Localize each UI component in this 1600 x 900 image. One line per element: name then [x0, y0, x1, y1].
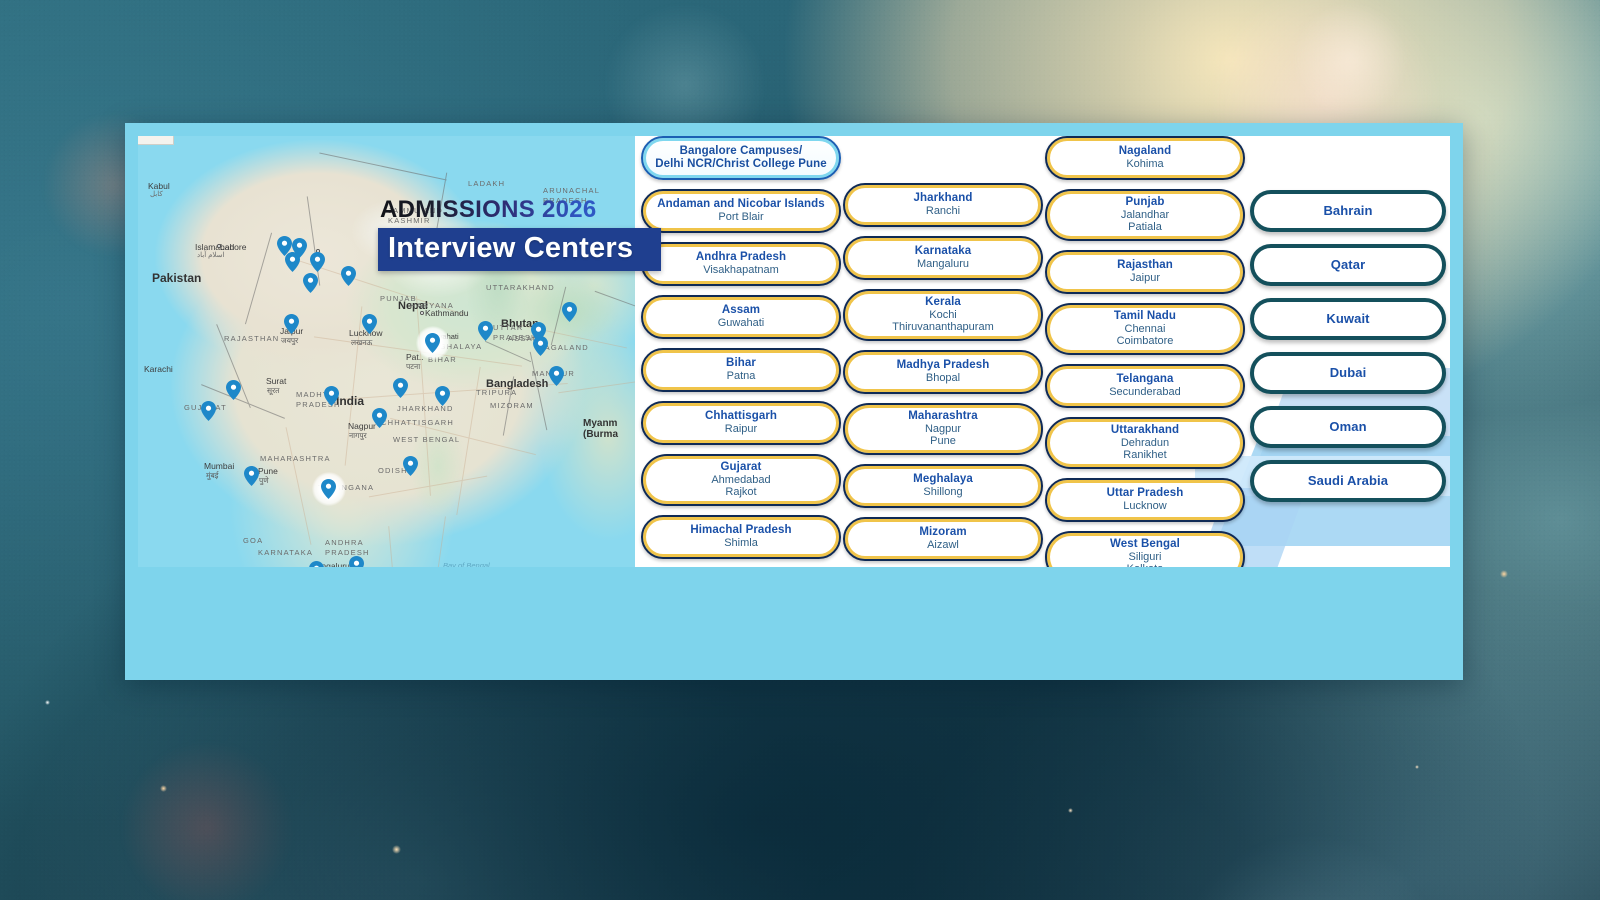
- center-country: Kuwait: [1326, 312, 1369, 327]
- center-state: Andaman and Nicobar Islands: [657, 198, 825, 211]
- center-city: Ahmedabad: [711, 474, 770, 487]
- map-city-dot: [217, 244, 221, 248]
- center-state: Andhra Pradesh: [696, 251, 786, 264]
- center-card[interactable]: Bihar Patna: [641, 348, 841, 392]
- center-city: Nagpur: [925, 423, 961, 436]
- center-card-international[interactable]: Bahrain: [1250, 190, 1446, 232]
- map-marker-pin[interactable]: [303, 273, 318, 293]
- center-city: Ranikhet: [1123, 449, 1166, 462]
- center-card-bangalore[interactable]: Bangalore Campuses/ Delhi NCR/Christ Col…: [641, 136, 841, 180]
- center-state: Rajasthan: [1117, 259, 1173, 272]
- center-card[interactable]: Meghalaya Shillong: [843, 464, 1043, 508]
- center-card-international[interactable]: Oman: [1250, 406, 1446, 448]
- center-city: Coimbatore: [1117, 335, 1174, 348]
- map-marker-pin[interactable]: [341, 266, 356, 286]
- center-card[interactable]: Andhra Pradesh Visakhapatnam: [641, 242, 841, 286]
- center-country: Oman: [1329, 420, 1366, 435]
- center-city: Jalandhar: [1121, 209, 1169, 222]
- map-marker-pin[interactable]: [324, 386, 339, 406]
- center-card[interactable]: Karnataka Mangaluru: [843, 236, 1043, 280]
- center-city: Kolkata: [1127, 563, 1164, 567]
- center-city: Jaipur: [1130, 272, 1160, 285]
- page-title: Interview Centers: [388, 232, 633, 264]
- center-state: Punjab: [1126, 196, 1165, 209]
- center-card-subtitle: Delhi NCR/Christ College Pune: [655, 158, 827, 171]
- center-city: Pune: [930, 435, 956, 448]
- center-city: Ranchi: [926, 205, 960, 218]
- center-state: Uttar Pradesh: [1107, 487, 1184, 500]
- center-card-international[interactable]: Saudi Arabia: [1250, 460, 1446, 502]
- center-card-international[interactable]: Qatar: [1250, 244, 1446, 286]
- map-marker-pin[interactable]: [310, 252, 325, 272]
- center-card[interactable]: Madhya Pradesh Bhopal: [843, 350, 1043, 394]
- map-attribution-strip: [138, 136, 174, 145]
- centers-column-international: Bahrain Qatar Kuwait Dubai Oman: [1250, 136, 1446, 514]
- center-state: Bihar: [726, 357, 756, 370]
- center-card[interactable]: Maharashtra Nagpur Pune: [843, 403, 1043, 455]
- map-marker-pin-highlighted[interactable]: [321, 479, 336, 499]
- center-city: Guwahati: [718, 317, 764, 330]
- map-marker-pin[interactable]: [349, 556, 364, 567]
- center-card[interactable]: Tamil Nadu Chennai Coimbatore: [1045, 303, 1245, 355]
- map-marker-pin[interactable]: [403, 456, 418, 476]
- center-card[interactable]: Mizoram Aizawl: [843, 517, 1043, 561]
- center-country: Qatar: [1331, 258, 1365, 273]
- center-card[interactable]: Rajasthan Jaipur: [1045, 250, 1245, 294]
- center-city: Patiala: [1128, 221, 1162, 234]
- center-city: Siliguri: [1128, 551, 1161, 564]
- center-state: Uttarakhand: [1111, 424, 1179, 437]
- center-city: Shimla: [724, 537, 758, 550]
- panel-inner: Pakistan India Nepal Bhutan Bangladesh M…: [138, 136, 1450, 567]
- center-card[interactable]: Himachal Pradesh Shimla: [641, 515, 841, 559]
- center-state: West Bengal: [1110, 538, 1180, 551]
- center-card[interactable]: Punjab Jalandhar Patiala: [1045, 189, 1245, 241]
- center-state: Kerala: [925, 296, 961, 309]
- center-card[interactable]: Assam Guwahati: [641, 295, 841, 339]
- center-city: Kochi: [929, 309, 957, 322]
- center-country: Saudi Arabia: [1308, 474, 1388, 489]
- center-state: Karnataka: [915, 245, 972, 258]
- map-marker-pin[interactable]: [244, 466, 259, 486]
- center-city: Secunderabad: [1109, 386, 1181, 399]
- center-card[interactable]: Gujarat Ahmedabad Rajkot: [641, 454, 841, 506]
- center-card-international[interactable]: Dubai: [1250, 352, 1446, 394]
- center-city: Mangaluru: [917, 258, 969, 271]
- center-country: Dubai: [1330, 366, 1367, 381]
- center-city: Aizawl: [927, 539, 959, 552]
- page-title-bar: Interview Centers: [378, 228, 661, 271]
- center-card-title: Bangalore Campuses/: [680, 145, 803, 158]
- admissions-year-label: ADMISSIONS 2026: [380, 198, 661, 222]
- center-state: Chhattisgarh: [705, 410, 777, 423]
- map-marker-pin[interactable]: [284, 314, 299, 334]
- map-marker-pin[interactable]: [226, 380, 241, 400]
- map-marker-pin[interactable]: [478, 321, 493, 341]
- centers-column-c: Nagaland Kohima Punjab Jalandhar Patiala…: [1045, 136, 1245, 567]
- column-spacer: [1250, 136, 1446, 190]
- map-marker-pin[interactable]: [549, 366, 564, 386]
- center-card[interactable]: Telangana Secunderabad: [1045, 364, 1245, 408]
- center-state: Tamil Nadu: [1114, 310, 1176, 323]
- content-panel: Pakistan India Nepal Bhutan Bangladesh M…: [125, 123, 1463, 680]
- map-marker-pin[interactable]: [435, 386, 450, 406]
- center-state: Mizoram: [919, 526, 966, 539]
- center-city: Raipur: [725, 423, 757, 436]
- centers-list: Bangalore Campuses/ Delhi NCR/Christ Col…: [635, 136, 1450, 567]
- map-marker-pin[interactable]: [362, 314, 377, 334]
- center-card[interactable]: Chhattisgarh Raipur: [641, 401, 841, 445]
- map-marker-pin[interactable]: [533, 336, 548, 356]
- center-card-international[interactable]: Kuwait: [1250, 298, 1446, 340]
- center-city: Rajkot: [725, 486, 756, 499]
- centers-column-b: Jharkhand Ranchi Karnataka Mangaluru Ker…: [843, 136, 1043, 567]
- center-city: Visakhapatnam: [703, 264, 779, 277]
- map-city-dot: [420, 311, 424, 315]
- center-card[interactable]: Nagaland Kohima: [1045, 136, 1245, 180]
- map-marker-pin[interactable]: [309, 561, 324, 567]
- map-marker-pin[interactable]: [393, 378, 408, 398]
- center-city: Shillong: [923, 486, 962, 499]
- centers-columns: Bangalore Campuses/ Delhi NCR/Christ Col…: [635, 136, 1450, 567]
- center-card[interactable]: Uttar Pradesh Lucknow: [1045, 478, 1245, 522]
- center-city: Port Blair: [718, 211, 763, 224]
- center-state: Himachal Pradesh: [690, 524, 791, 537]
- centers-column-a: Bangalore Campuses/ Delhi NCR/Christ Col…: [641, 136, 841, 567]
- center-state: Jharkhand: [913, 192, 972, 205]
- center-card[interactable]: West Bengal Siliguri Kolkata: [1045, 531, 1245, 567]
- center-card[interactable]: Uttarakhand Dehradun Ranikhet: [1045, 417, 1245, 469]
- column-spacer: [843, 136, 1043, 183]
- center-city: Lucknow: [1123, 500, 1166, 513]
- center-city: Thiruvananthapuram: [892, 321, 994, 334]
- center-state: Assam: [722, 304, 760, 317]
- center-card[interactable]: Jharkhand Ranchi: [843, 183, 1043, 227]
- center-city: Kohima: [1126, 158, 1163, 171]
- map-marker-pin[interactable]: [562, 302, 577, 322]
- center-city: Chennai: [1125, 323, 1166, 336]
- center-city: Dehradun: [1121, 437, 1169, 450]
- center-state: Gujarat: [721, 461, 762, 474]
- map-marker-pin[interactable]: [372, 408, 387, 428]
- map-marker-pin[interactable]: [285, 252, 300, 272]
- center-city: Bhopal: [926, 372, 960, 385]
- center-state: Meghalaya: [913, 473, 973, 486]
- center-state: Telangana: [1117, 373, 1174, 386]
- center-state: Madhya Pradesh: [897, 359, 990, 372]
- page-title-block: ADMISSIONS 2026 Interview Centers: [378, 198, 661, 271]
- center-city: Patna: [727, 370, 756, 383]
- center-card[interactable]: Andaman and Nicobar Islands Port Blair: [641, 189, 841, 233]
- map-marker-pin[interactable]: [201, 401, 216, 421]
- map-marker-pin-highlighted[interactable]: [425, 333, 440, 353]
- center-state: Nagaland: [1119, 145, 1172, 158]
- center-country: Bahrain: [1323, 204, 1372, 219]
- center-card[interactable]: Kerala Kochi Thiruvananthapuram: [843, 289, 1043, 341]
- center-state: Maharashtra: [908, 410, 978, 423]
